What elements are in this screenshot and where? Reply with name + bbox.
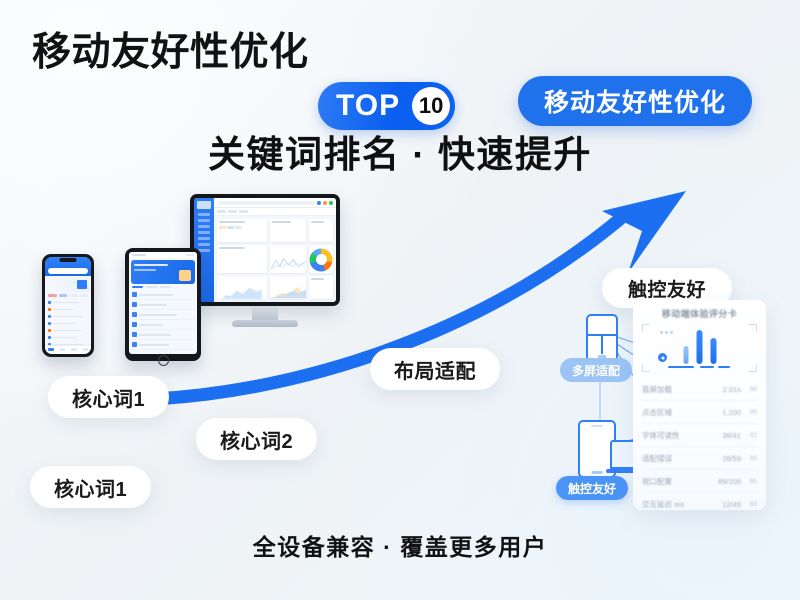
phone-tab-bar xyxy=(45,345,91,354)
dashboard-card-grid xyxy=(214,216,336,302)
dashboard-area-chart-card xyxy=(270,276,307,299)
tablet-home-button xyxy=(158,355,169,366)
card-heading-bar xyxy=(219,247,245,249)
card-tag-group xyxy=(219,226,242,229)
sidebar-nav-item xyxy=(198,231,210,234)
row-name: 字体可读性 xyxy=(642,430,715,441)
header-row: 移动友好性优化 TOP 10 移动友好性优化 xyxy=(0,26,800,88)
sidebar-nav-item xyxy=(198,243,210,246)
list-item xyxy=(48,327,88,334)
keyword-pill-3: 核心词1 xyxy=(30,466,151,508)
page-subtitle: 关键词排名 · 快速提升 xyxy=(0,124,800,178)
desktop-monitor-mockup xyxy=(190,194,340,327)
row-extra: 88 xyxy=(741,455,757,462)
keyword-pill-1: 核心词1 xyxy=(48,376,169,418)
page-title: 移动友好性优化 xyxy=(32,26,309,80)
dashboard-area-chart-card xyxy=(217,276,267,299)
hero-title-bar xyxy=(134,264,168,266)
list-item xyxy=(132,330,194,340)
row-extra: 83 xyxy=(741,501,757,508)
poster-canvas: 移动友好性优化 TOP 10 移动友好性优化 关键词排名 · 快速提升 xyxy=(0,0,800,600)
sidebar-nav-item xyxy=(198,225,210,228)
status-dot-green-icon xyxy=(329,201,333,205)
layout-adapt-pill: 布局适配 xyxy=(370,348,500,390)
card-heading-bar xyxy=(311,278,323,280)
card-heading-bar xyxy=(272,221,291,223)
card-heading-bar xyxy=(311,221,323,223)
sidebar-nav-item xyxy=(198,219,210,222)
list-item xyxy=(132,340,194,350)
dashboard-card xyxy=(217,219,267,242)
keyword-pill-label: 核心词1 xyxy=(54,473,127,502)
tablet-hero-banner xyxy=(131,260,195,284)
filter-chip xyxy=(217,210,226,213)
row-value: 89/106 xyxy=(715,477,741,486)
mobile-scorecard-panel: 移动端体验评分卡 首屏加载 2.01s 98 点击区域 1,200 xyxy=(633,300,766,510)
dashboard-search-bar xyxy=(217,201,315,205)
device-chip-label: 多屏适配 xyxy=(572,362,620,379)
table-row: 交互延迟 ms 12/49 83 xyxy=(642,493,757,510)
list-item xyxy=(48,313,88,320)
tablet-list xyxy=(129,290,197,350)
dashboard-topbar xyxy=(214,198,336,208)
table-row: 首屏加载 2.01s 98 xyxy=(642,378,757,401)
phone-banner xyxy=(47,278,89,292)
sidebar-nav-item xyxy=(198,237,210,240)
keyword-pill-label: 核心词2 xyxy=(220,425,293,454)
phone-header xyxy=(45,257,91,276)
chart-bars xyxy=(683,330,716,364)
row-value: 28/59 xyxy=(715,454,741,463)
sidebar-nav-item xyxy=(198,213,210,216)
list-item xyxy=(48,334,88,341)
row-value: 2.01s xyxy=(715,385,741,394)
table-row: 点击区域 1,200 95 xyxy=(642,401,757,424)
row-extra: 86 xyxy=(741,478,757,485)
keyword-pill-2: 核心词2 xyxy=(196,418,317,460)
line-chart-icon xyxy=(270,253,307,273)
footer-tagline: 全设备兼容 · 覆盖更多用户 xyxy=(0,528,800,562)
chart-baseline xyxy=(718,366,730,368)
row-extra: 92 xyxy=(741,432,757,439)
row-name: 适配错误 xyxy=(642,453,715,464)
row-value: 38/41 xyxy=(715,431,741,440)
list-item xyxy=(132,300,194,310)
mini-phone-icon-top xyxy=(586,314,618,362)
filter-chip xyxy=(228,210,237,213)
status-dot-blue-icon xyxy=(317,201,321,205)
table-row: 视口配置 89/106 86 xyxy=(642,470,757,493)
tablet-nav-title xyxy=(132,254,146,256)
touch-friendly-pill-label: 触控友好 xyxy=(628,275,706,302)
hero-subtitle-bar xyxy=(134,269,156,271)
row-extra: 98 xyxy=(741,386,757,393)
chart-baseline xyxy=(668,366,694,368)
list-item xyxy=(132,290,194,300)
row-extra: 95 xyxy=(741,409,757,416)
area-chart-icon xyxy=(217,283,267,299)
tablet-mockup xyxy=(125,248,201,361)
row-name: 点击区域 xyxy=(642,407,715,418)
scorecard-title: 移动端体验评分卡 xyxy=(633,307,766,320)
row-value: 12/49 xyxy=(715,500,741,509)
dashboard-line-chart-card xyxy=(270,245,307,273)
hero-illustration-icon xyxy=(179,270,191,281)
phone-search-bar xyxy=(48,268,88,274)
monitor-stand-foot xyxy=(232,320,298,327)
table-row: 适配错误 28/59 88 xyxy=(642,447,757,470)
chart-pin-icon xyxy=(658,353,667,362)
monitor-screen xyxy=(194,198,336,302)
banner-thumbnail xyxy=(77,280,87,289)
list-item xyxy=(132,310,194,320)
dashboard-body xyxy=(214,198,336,302)
tablet-nav-actions xyxy=(186,254,194,256)
dashboard-card xyxy=(309,276,333,299)
phone-bezel xyxy=(42,254,94,357)
list-item xyxy=(48,306,88,313)
phone-mockup xyxy=(42,254,94,357)
phone-screen xyxy=(45,257,91,354)
top-rank-badge: TOP 10 xyxy=(318,82,455,130)
chart-bar xyxy=(710,338,716,364)
row-name: 首屏加载 xyxy=(642,384,715,395)
status-dot-orange-icon xyxy=(323,201,327,205)
sidebar-logo xyxy=(197,201,211,209)
list-item xyxy=(48,299,88,306)
monitor-stand-neck xyxy=(252,306,278,320)
monitor-bezel xyxy=(190,194,340,306)
chart-bar xyxy=(696,330,702,364)
chart-dots-icon xyxy=(660,331,673,334)
list-item xyxy=(132,320,194,330)
dashboard-card xyxy=(270,219,307,242)
device-chip-touch: 触控友好 xyxy=(556,476,628,500)
top-badge-number: 10 xyxy=(412,87,450,125)
phone-notch xyxy=(60,258,77,262)
scorecard-rows: 首屏加载 2.01s 98 点击区域 1,200 95 字体可读性 38/41 … xyxy=(633,378,766,510)
keyword-pill-label: 核心词1 xyxy=(72,383,145,412)
row-name: 交互延迟 ms xyxy=(642,499,715,510)
filter-chip xyxy=(239,210,248,213)
dashboard-card xyxy=(309,219,333,242)
device-mockups xyxy=(20,190,350,390)
header-tag-pill: 移动友好性优化 xyxy=(518,76,752,126)
card-heading-bar xyxy=(219,221,245,223)
donut-chart-icon xyxy=(310,248,333,271)
tablet-screen xyxy=(129,252,197,354)
top-badge-label: TOP xyxy=(336,91,412,121)
row-value: 1,200 xyxy=(715,408,741,417)
dashboard-filter-bar xyxy=(214,208,336,216)
device-chip-multiscreen: 多屏适配 xyxy=(560,358,632,382)
layout-adapt-pill-label: 布局适配 xyxy=(394,355,476,384)
tablet-navbar xyxy=(129,252,197,258)
list-item xyxy=(48,320,88,327)
dashboard-card xyxy=(217,245,267,273)
chart-baseline xyxy=(700,366,714,368)
row-name: 视口配置 xyxy=(642,476,715,487)
table-row: 字体可读性 38/41 92 xyxy=(642,424,757,447)
chart-bar xyxy=(683,346,688,364)
device-chip-label: 触控友好 xyxy=(568,480,616,497)
area-chart-icon xyxy=(270,283,307,299)
dashboard-donut-chart-card xyxy=(309,245,333,273)
scorecard-bar-chart xyxy=(642,324,757,372)
tablet-bezel xyxy=(125,248,201,361)
header-tag-pill-label: 移动友好性优化 xyxy=(544,83,726,119)
